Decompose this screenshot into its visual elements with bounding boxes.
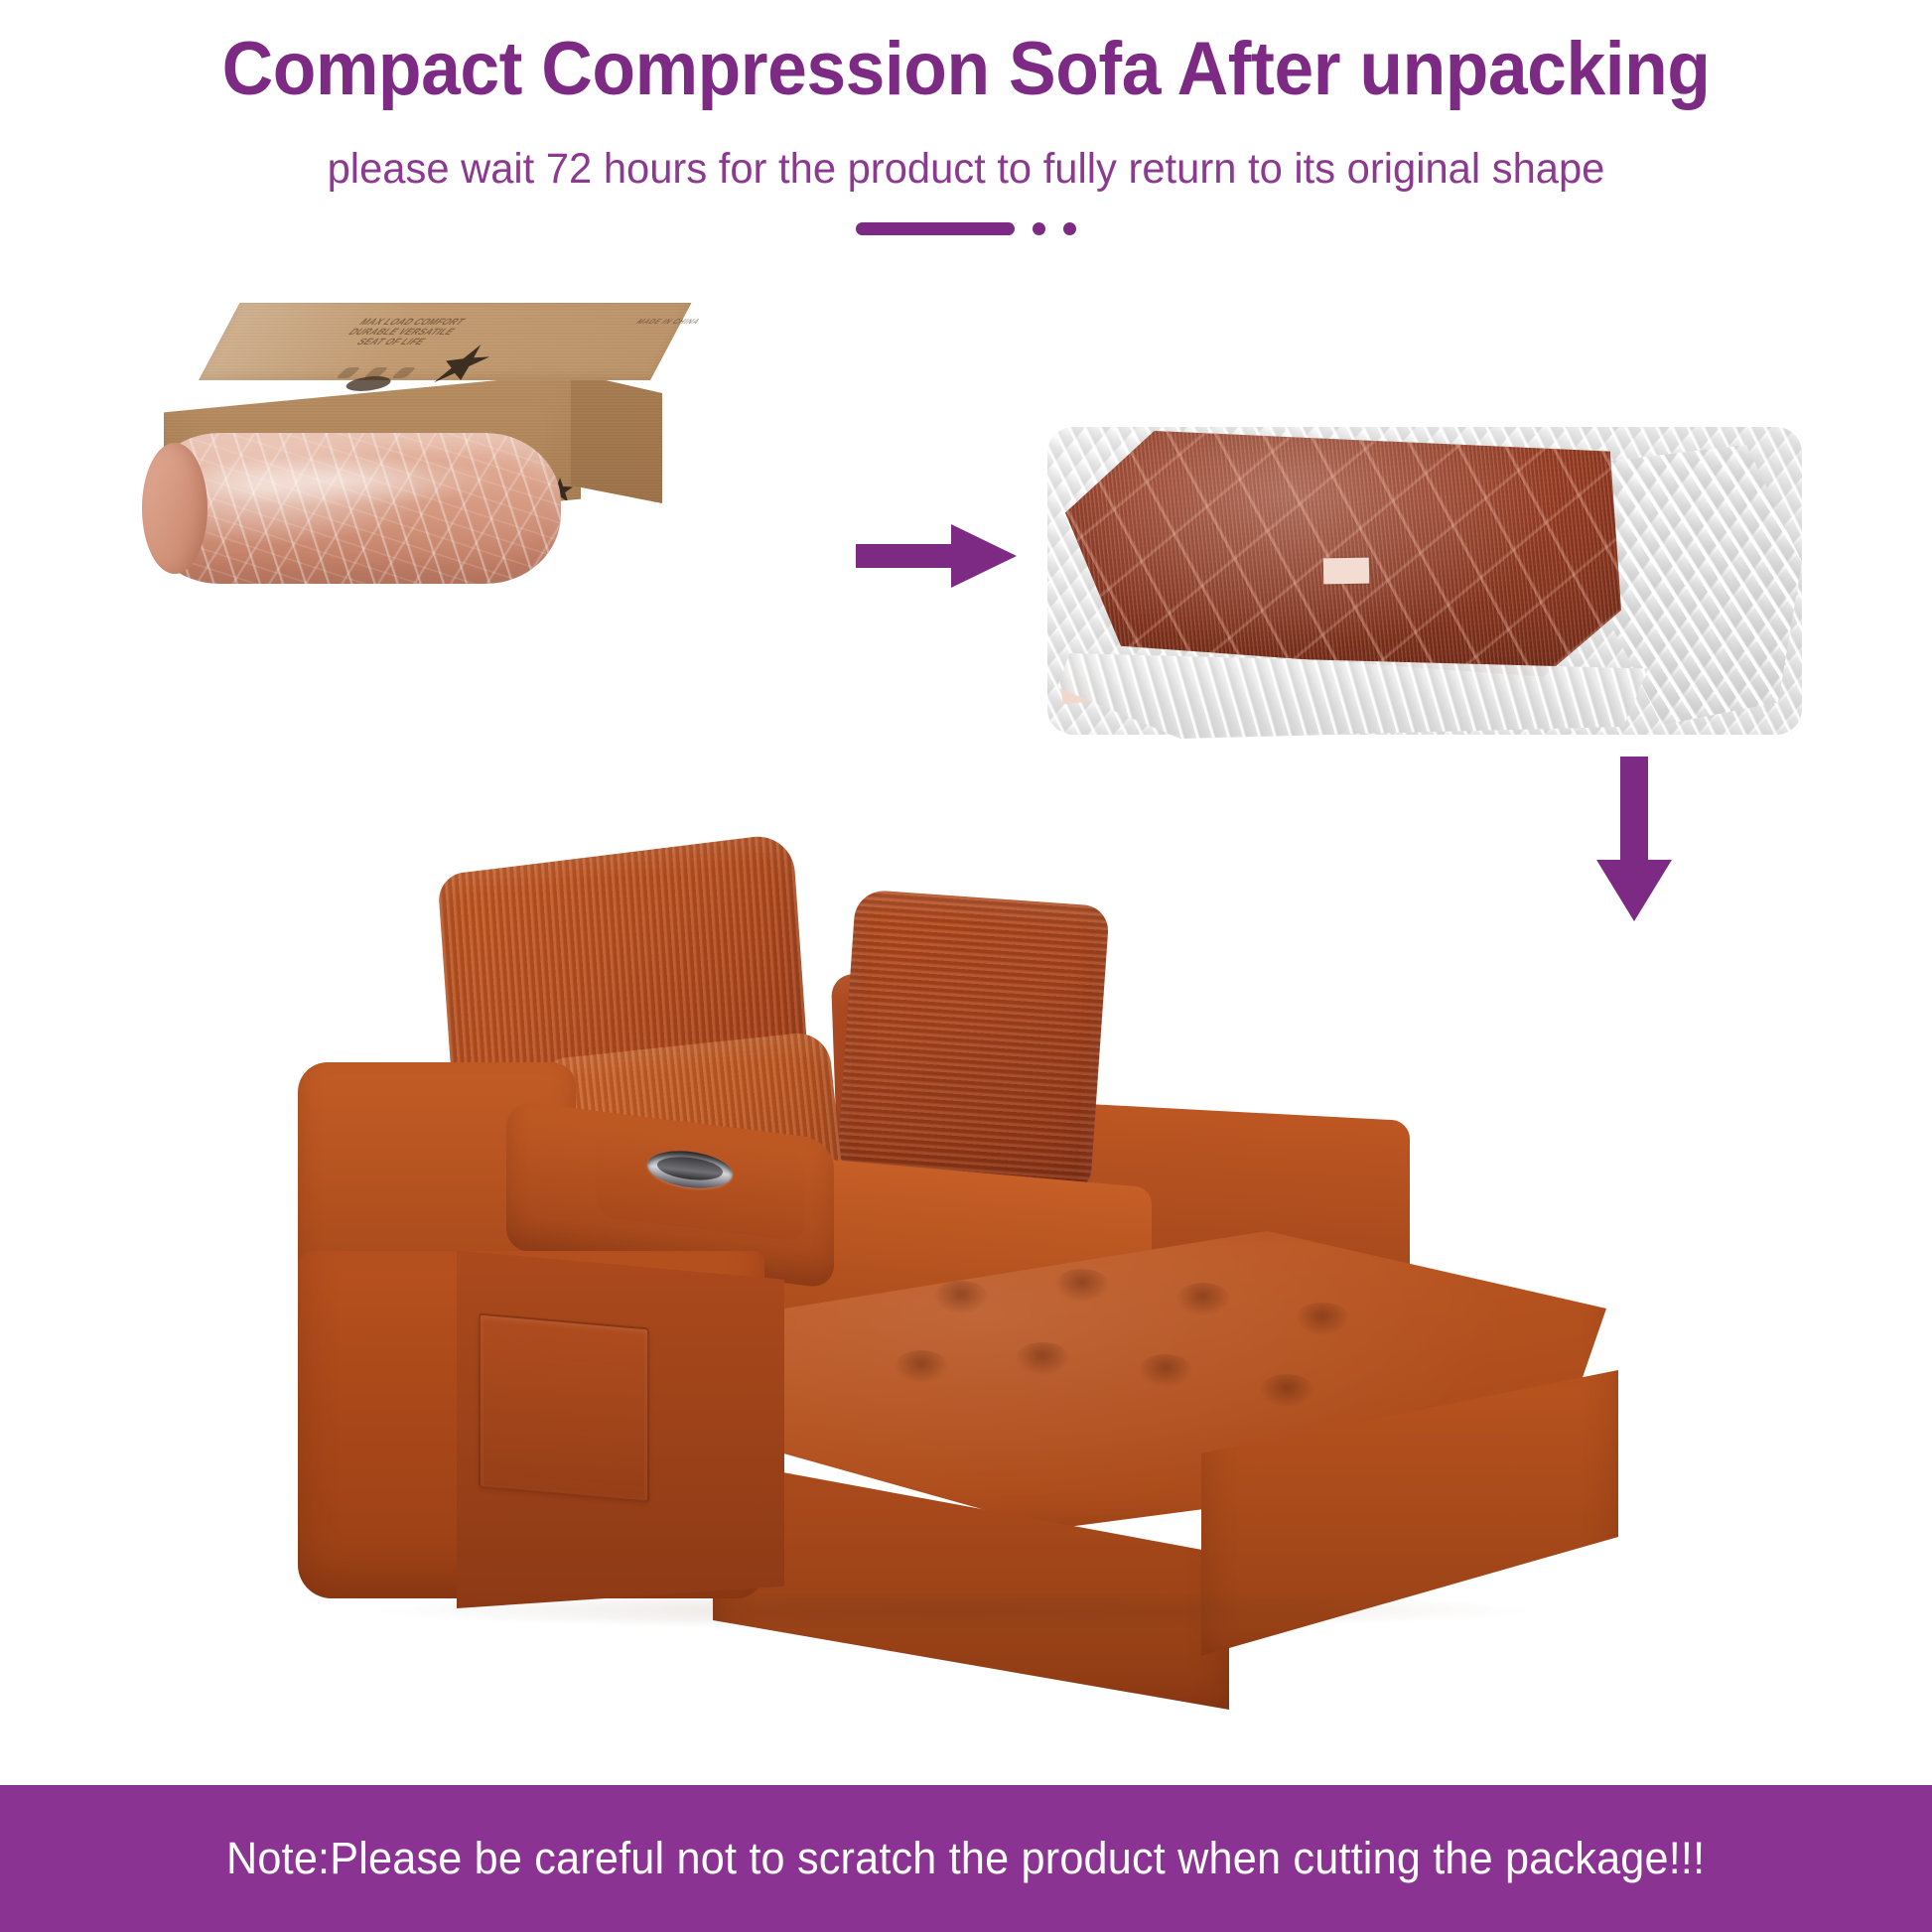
eco-icon — [391, 367, 417, 378]
divider-bar-icon — [856, 222, 1015, 235]
page-subtitle: please wait 72 hours for the product to … — [29, 145, 1903, 194]
page-title: Compact Compression Sofa After unpacking — [58, 28, 1873, 111]
arrow-right-icon — [856, 524, 1017, 588]
expanded-sofa-image — [298, 854, 1718, 1628]
carton-origin-text: MADE IN CHINA — [603, 319, 701, 326]
arrow-shaft — [1620, 757, 1648, 868]
compressed-sofa-roll-image — [144, 417, 561, 606]
divider-dot-icon — [1033, 222, 1045, 235]
arrow-shaft — [856, 544, 959, 568]
note-text: Note:Please be careful not to scratch th… — [226, 1833, 1705, 1884]
roll-highlight — [174, 455, 501, 506]
carton-top-panel: MAX LOAD COMFORT DURABLE VERSATILE SEAT … — [199, 303, 691, 380]
side-pocket — [479, 1312, 649, 1502]
vacuum-packed-sofa-image — [1047, 417, 1802, 745]
product-label — [1323, 558, 1369, 585]
throw-pillow — [836, 889, 1110, 1193]
divider — [0, 212, 1932, 244]
header: Compact Compression Sofa After unpacking… — [0, 0, 1932, 258]
recycle-icon — [336, 367, 361, 378]
note-bar: Note:Please be careful not to scratch th… — [0, 1785, 1932, 1932]
arrow-head — [951, 524, 1017, 588]
roll-end-cap — [142, 443, 207, 574]
corduroy-rib-texture — [836, 889, 1110, 1193]
divider-dot-icon — [1063, 222, 1076, 235]
